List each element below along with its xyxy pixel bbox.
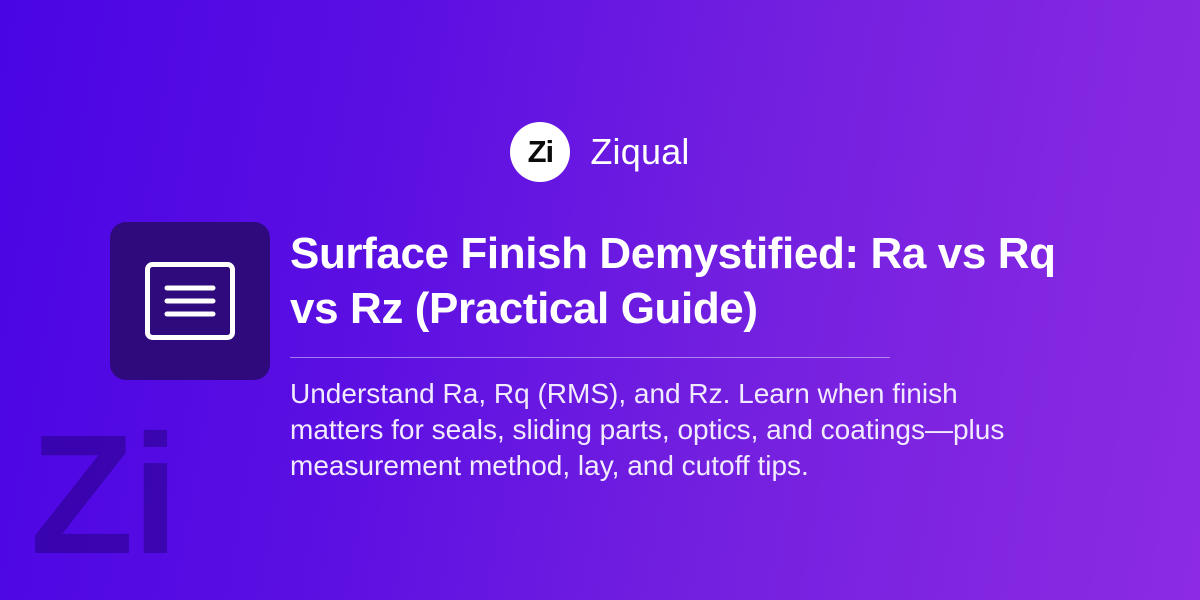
title-divider [290, 357, 890, 358]
brand-logo-initials: Zi [528, 136, 554, 167]
article-hero-banner: Zi Zi Ziqual Surface Finish Demystified:… [0, 0, 1200, 600]
page-title: Surface Finish Demystified: Ra vs Rq vs … [290, 226, 1080, 336]
document-lines-icon [145, 262, 235, 340]
brand-lockup: Zi Ziqual [0, 122, 1200, 182]
hero-text-column: Surface Finish Demystified: Ra vs Rq vs … [290, 222, 1080, 484]
page-subtitle: Understand Ra, Rq (RMS), and Rz. Learn w… [290, 376, 1050, 484]
topic-tile [110, 222, 270, 380]
hero-content: Surface Finish Demystified: Ra vs Rq vs … [110, 222, 1080, 484]
brand-logo-icon: Zi [510, 122, 570, 182]
brand-name: Ziqual [590, 134, 689, 170]
